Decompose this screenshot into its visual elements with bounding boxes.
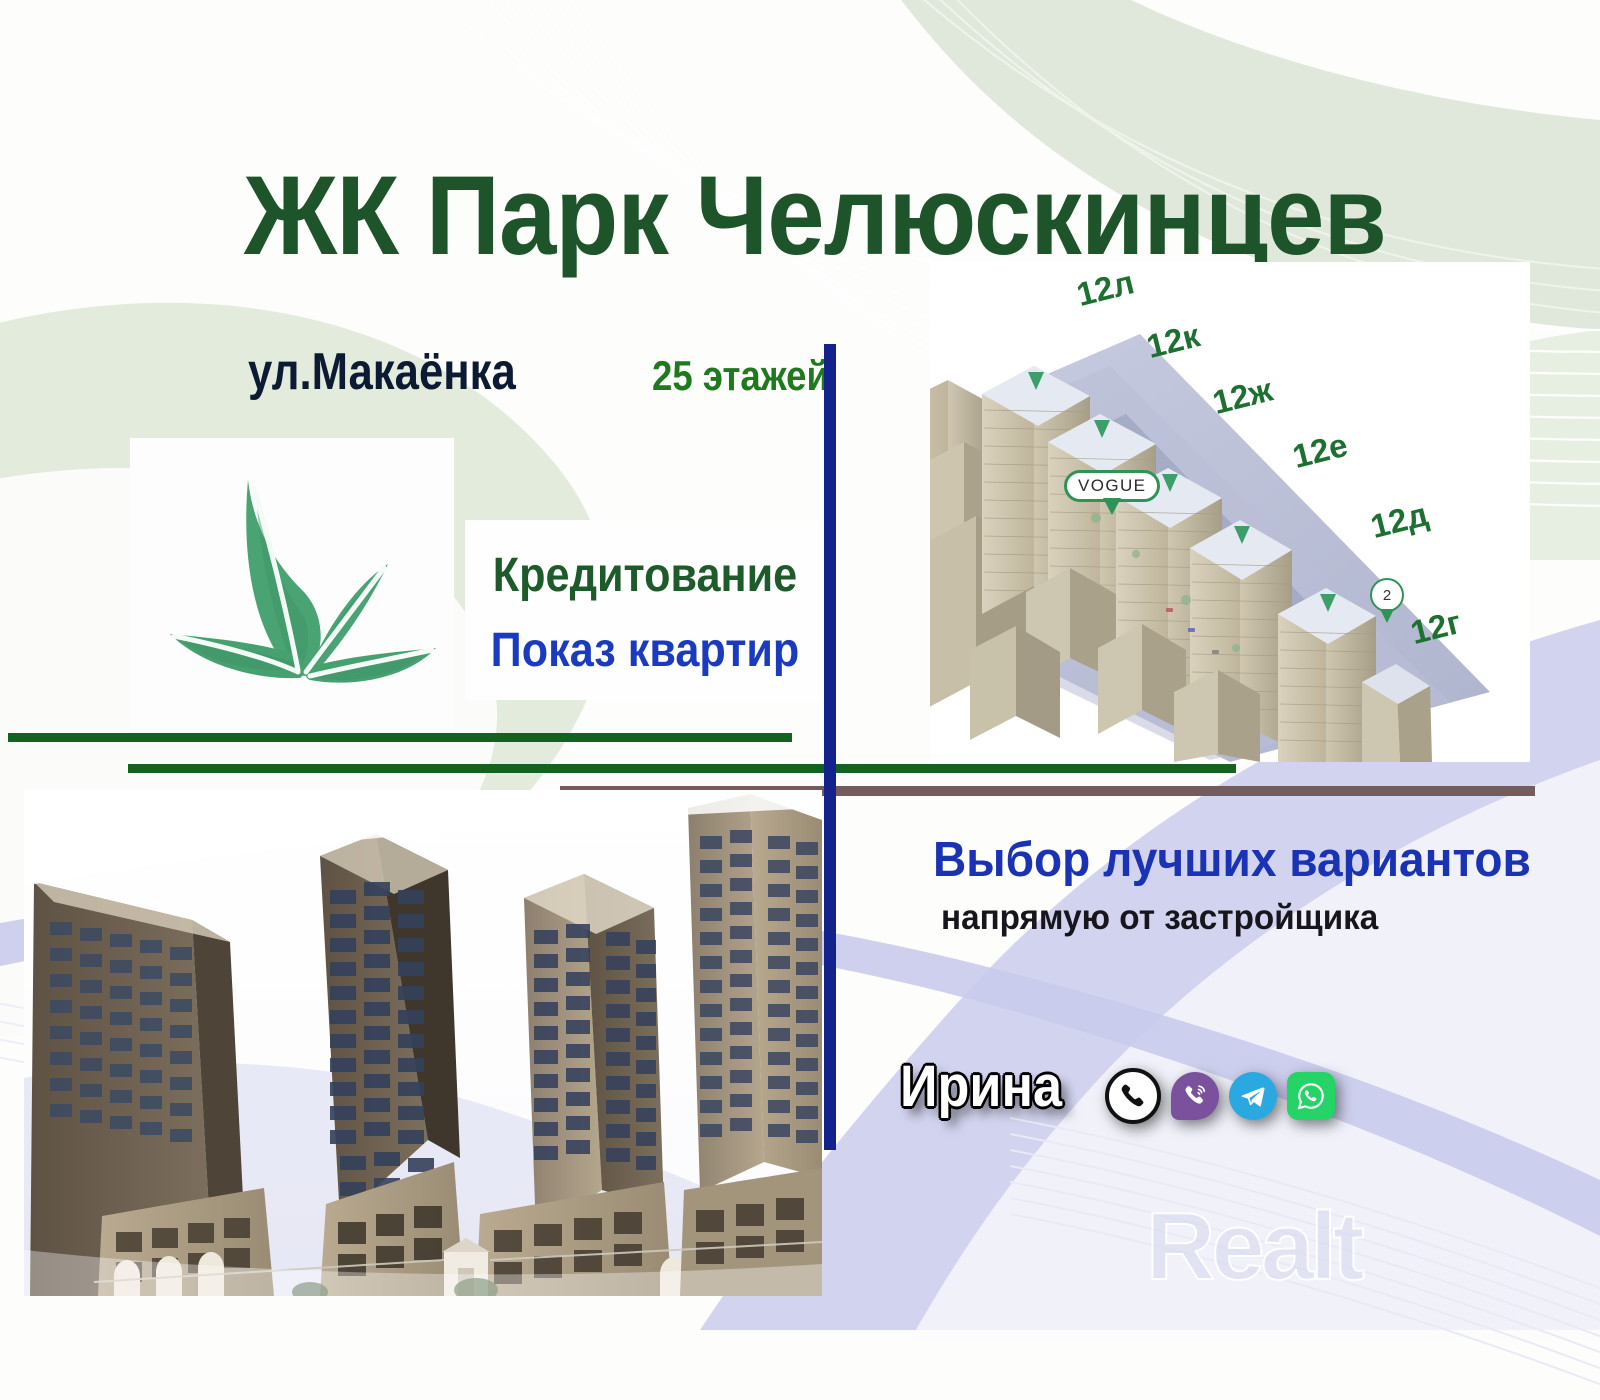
site-plan-render: VOGUE 2 12л 12к 12ж 12е 12д 12г [930,262,1530,762]
whatsapp-icon[interactable] [1287,1072,1335,1120]
advertisement-poster: ЖК Парк Челюскинцев ул.Макаёнка 25 этаже… [0,0,1600,1400]
pitch-subline: напрямую от застройщика [941,898,1378,938]
service-apartment-showing: Показ квартир [483,623,807,678]
divider-vertical-blue [824,344,836,1150]
pitch-headline: Выбор лучших вариантов [933,832,1531,888]
divider-green-lower [128,764,1236,773]
phone-icon[interactable] [1105,1068,1161,1124]
floors-count: 25 этажей [652,352,829,400]
site-plan-pin-vogue[interactable]: VOGUE [1064,470,1160,502]
agent-name: Ирина [900,1053,1062,1120]
site-plan-pin-number[interactable]: 2 [1370,578,1404,612]
green-leaves-logo-icon [130,438,454,732]
viber-icon[interactable] [1171,1072,1219,1120]
service-credit: Кредитование [483,548,807,603]
divider-green-upper [8,733,792,742]
services-block: Кредитование Показ квартир [465,520,825,700]
telegram-icon[interactable] [1229,1072,1277,1120]
street-address: ул.Макаёнка [248,342,516,402]
contact-channels [1105,1068,1335,1124]
realt-watermark: Realt [1146,1192,1361,1302]
page-title: ЖК Парк Челюскинцев [244,160,1386,272]
building-photo [24,790,822,1296]
